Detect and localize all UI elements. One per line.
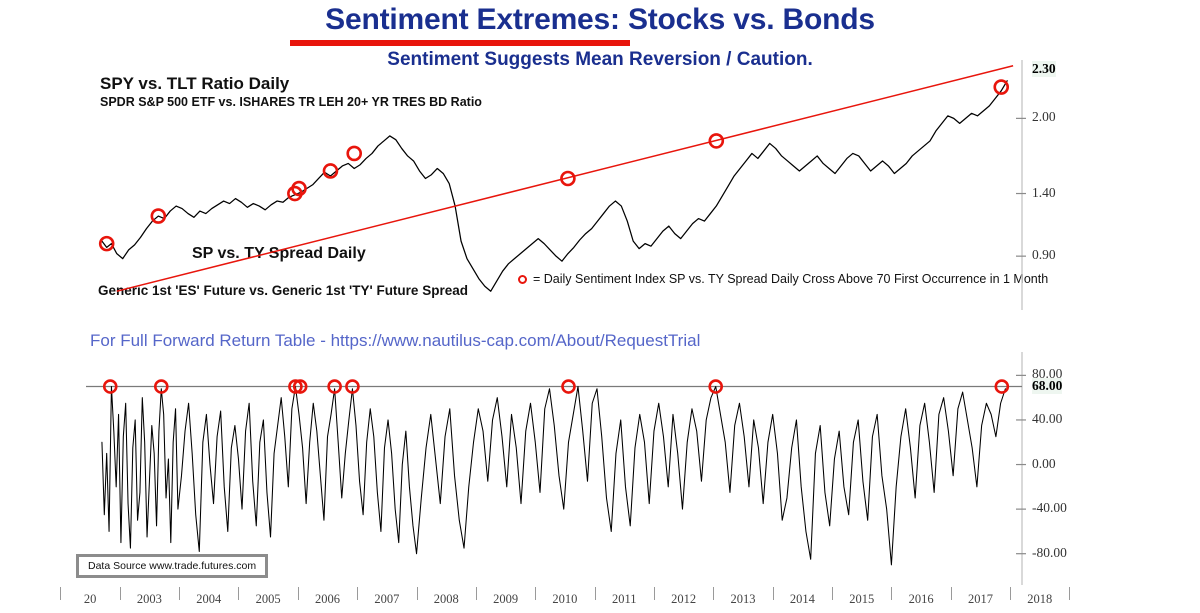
axis-tick-label: -40.00 [1032, 500, 1067, 516]
year-tick-label: 2011 [612, 592, 637, 607]
year-tick-mark [595, 587, 596, 600]
year-tick-label: 2010 [552, 592, 577, 607]
year-tick-label: 2017 [968, 592, 993, 607]
year-tick-mark [654, 587, 655, 600]
year-tick-label: 2007 [374, 592, 399, 607]
year-tick-mark [713, 587, 714, 600]
axis-current-value: 2.30 [1032, 61, 1056, 77]
axis-tick-label: 40.00 [1032, 411, 1062, 427]
top-chart-plot [100, 60, 1026, 310]
year-tick-mark [179, 587, 180, 600]
year-tick-label: 20 [84, 592, 97, 607]
year-tick-mark [476, 587, 477, 600]
year-tick-mark [298, 587, 299, 600]
axis-tick-label: 0.00 [1032, 456, 1056, 472]
axis-tick-label: 2.00 [1032, 109, 1056, 125]
data-source-box: Data Source www.trade.futures.com [76, 554, 268, 578]
year-tick-label: 2013 [731, 592, 756, 607]
year-tick-mark [1010, 587, 1011, 600]
year-tick-mark [120, 587, 121, 600]
axis-current-value: 68.00 [1032, 378, 1062, 394]
year-tick-mark [832, 587, 833, 600]
axis-tick-label: 1.40 [1032, 185, 1056, 201]
year-tick-label: 2014 [790, 592, 815, 607]
year-tick-label: 2015 [849, 592, 874, 607]
year-tick-label: 2012 [671, 592, 696, 607]
year-tick-label: 2009 [493, 592, 518, 607]
bottom-chart-plot [86, 352, 1026, 585]
axis-tick-label: -80.00 [1032, 545, 1067, 561]
year-tick-label: 2016 [909, 592, 934, 607]
year-tick-label: 2018 [1027, 592, 1052, 607]
year-tick-label: 2006 [315, 592, 340, 607]
year-tick-mark [951, 587, 952, 600]
sentiment-marker [348, 147, 361, 160]
year-tick-mark [1069, 587, 1070, 600]
year-tick-label: 2005 [256, 592, 281, 607]
axis-tick-label: 0.90 [1032, 247, 1056, 263]
x-axis-years: 2020032004200520062007200820092010201120… [0, 589, 1200, 611]
year-tick-mark [60, 587, 61, 600]
year-tick-label: 2003 [137, 592, 162, 607]
year-tick-mark [238, 587, 239, 600]
year-tick-mark [357, 587, 358, 600]
charts-canvas [0, 0, 1200, 613]
year-tick-mark [535, 587, 536, 600]
year-tick-mark [773, 587, 774, 600]
year-tick-label: 2004 [196, 592, 221, 607]
year-tick-mark [891, 587, 892, 600]
year-tick-mark [417, 587, 418, 600]
year-tick-label: 2008 [434, 592, 459, 607]
